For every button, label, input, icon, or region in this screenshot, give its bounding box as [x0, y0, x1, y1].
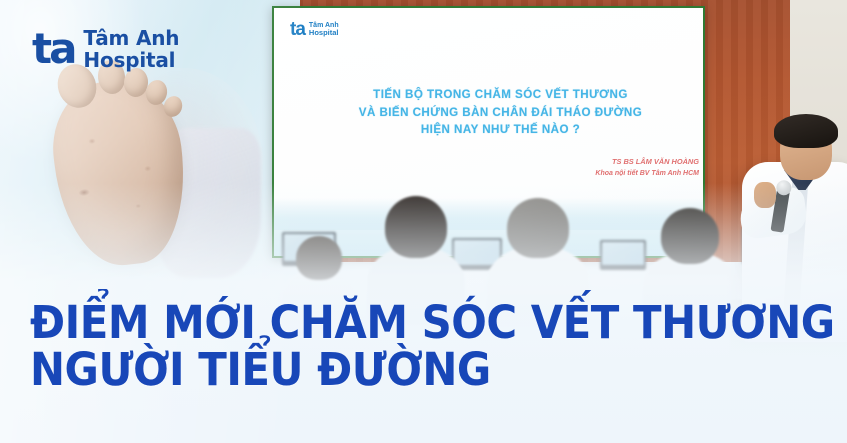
slide-title: TIẾN BỘ TRONG CHĂM SÓC VẾT THƯƠNG VÀ BIẾ… [308, 86, 693, 139]
headline-line-2: NGƯỜI TIỂU ĐƯỜNG [30, 347, 835, 393]
slide-title-line-3: HIỆN NAY NHƯ THẾ NÀO ? [308, 121, 693, 139]
slide-author-department: Khoa nội tiết BV Tâm Anh HCM [595, 168, 699, 180]
monitor [600, 240, 646, 270]
headline: ĐIỂM MỚI CHĂM SÓC VẾT THƯƠNG NGƯỜI TIỂU … [30, 300, 835, 393]
projector-screen: ta Tâm Anh Hospital TIẾN BỘ TRONG CHĂM S… [272, 6, 705, 258]
slide-author-name: TS BS LÂM VĂN HOÀNG [595, 156, 699, 168]
brand-logo: ta Tâm Anh Hospital [32, 28, 179, 71]
slide-logo-mark: ta [290, 22, 305, 37]
brand-name-line1: Tâm Anh [83, 28, 179, 50]
doctor-hair [774, 114, 838, 148]
slide-author: TS BS LÂM VĂN HOÀNG Khoa nội tiết BV Tâm… [595, 156, 699, 180]
diabetic-foot-photo [28, 58, 258, 288]
brand-name-line2: Hospital [83, 50, 179, 72]
slide-logo: ta Tâm Anh Hospital [290, 22, 339, 37]
slide-logo-line2: Hospital [309, 29, 339, 37]
slide-title-line-2: VÀ BIẾN CHỨNG BÀN CHÂN ĐÁI THÁO ĐƯỜNG [308, 104, 693, 122]
headline-line-1: ĐIỂM MỚI CHĂM SÓC VẾT THƯƠNG [30, 300, 835, 346]
brand-logo-mark: ta [32, 34, 74, 64]
slide-title-line-1: TIẾN BỘ TRONG CHĂM SÓC VẾT THƯƠNG [308, 86, 693, 104]
promo-banner: ta Tâm Anh Hospital TIẾN BỘ TRONG CHĂM S… [0, 0, 847, 443]
slide: ta Tâm Anh Hospital TIẾN BỘ TRONG CHĂM S… [274, 8, 703, 256]
doctor-hand [754, 182, 776, 208]
